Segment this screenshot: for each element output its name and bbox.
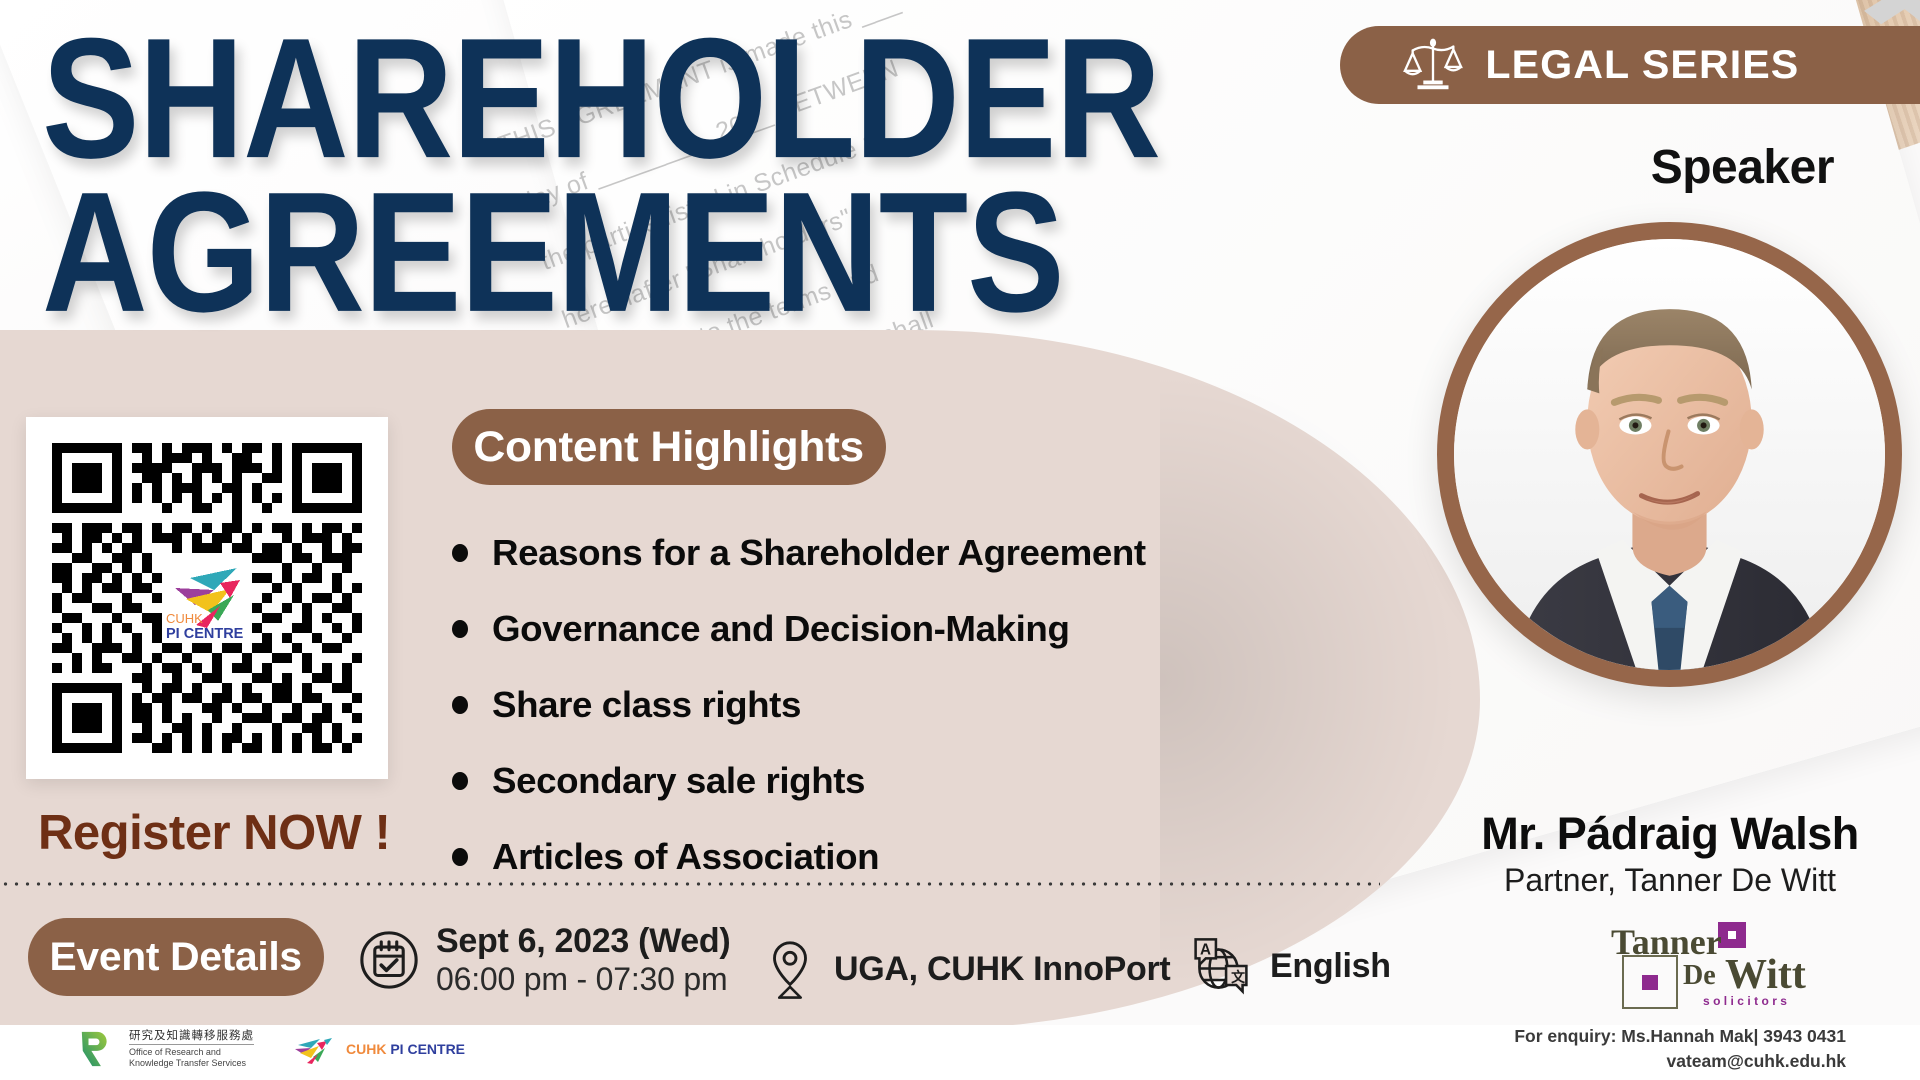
pi-centre-logo: CUHK PI CENTRE xyxy=(294,1033,465,1065)
location-pin-icon xyxy=(762,938,818,1000)
svg-text:CUHK: CUHK xyxy=(166,611,203,626)
speaker-heading: Speaker xyxy=(1651,140,1834,195)
event-details-label: Event Details xyxy=(50,935,302,980)
register-cta[interactable]: Register NOW ! xyxy=(38,805,390,861)
list-item: Share class rights xyxy=(452,667,1212,743)
pi-centre-prefix: CUHK xyxy=(346,1041,386,1057)
ort-english-name: Office of Research and Knowledge Transfe… xyxy=(129,1044,254,1069)
page-title: SHAREHOLDER AGREEMENTS xyxy=(42,22,1208,330)
legal-series-label: LEGAL SERIES xyxy=(1485,43,1799,88)
pi-centre-name: PI CENTRE xyxy=(390,1041,465,1057)
svg-text:文: 文 xyxy=(1231,969,1246,985)
list-item-label: Reasons for a Shareholder Agreement xyxy=(492,532,1146,574)
list-item: Secondary sale rights xyxy=(452,743,1212,819)
title-line-1: SHAREHOLDER xyxy=(42,22,1208,176)
bullet-dot-icon xyxy=(452,696,468,714)
bullet-dot-icon xyxy=(452,544,468,562)
bullet-dot-icon xyxy=(452,772,468,790)
content-highlights-heading: Content Highlights xyxy=(452,409,886,485)
bullet-dot-icon xyxy=(452,848,468,866)
list-item-label: Share class rights xyxy=(492,684,801,726)
avatar xyxy=(1437,222,1902,687)
qr-code[interactable]: CUHK PI CENTRE xyxy=(26,417,388,779)
event-poster: THIS AGREEMENT is made this ___ day of _… xyxy=(0,0,1920,1080)
event-date-block: Sept 6, 2023 (Wed) 06:00 pm - 07:30 pm xyxy=(358,922,730,998)
ort-english-line-2: Knowledge Transfer Services xyxy=(129,1058,254,1069)
event-venue-block: UGA, CUHK InnoPort xyxy=(762,938,1170,1000)
svg-text:A: A xyxy=(1200,942,1211,959)
list-item: Governance and Decision-Making xyxy=(452,591,1212,667)
title-line-2: AGREEMENTS xyxy=(42,176,1208,330)
pi-centre-bird-icon xyxy=(294,1033,340,1065)
svg-text:Witt: Witt xyxy=(1725,952,1806,998)
content-highlights-list: Reasons for a Shareholder Agreement Gove… xyxy=(452,515,1212,895)
event-details-pill: Event Details xyxy=(28,918,324,996)
event-venue: UGA, CUHK InnoPort xyxy=(834,950,1170,989)
tanner-de-witt-logo: Tanner De Witt solicitors xyxy=(1585,920,1845,1012)
list-item-label: Secondary sale rights xyxy=(492,760,865,802)
speaker-name: Mr. Pádraig Walsh xyxy=(1420,808,1920,860)
list-item-label: Articles of Association xyxy=(492,836,879,878)
ort-english-line-1: Office of Research and xyxy=(129,1047,254,1058)
event-language-block: A 文 English xyxy=(1188,935,1391,997)
event-date: Sept 6, 2023 (Wed) xyxy=(436,922,730,961)
content-highlights-label: Content Highlights xyxy=(474,423,865,472)
scales-of-justice-icon xyxy=(1402,34,1464,96)
calendar-check-icon xyxy=(358,929,420,991)
dotted-divider xyxy=(0,880,1380,888)
footer-logos: 研究及知識轉移服務處 Office of Research and Knowle… xyxy=(78,1028,465,1070)
svg-text:PI CENTRE: PI CENTRE xyxy=(166,626,244,642)
enquiry-info: For enquiry: Ms.Hannah Mak| 3943 0431 va… xyxy=(1514,1024,1846,1074)
ort-logo: 研究及知識轉移服務處 Office of Research and Knowle… xyxy=(78,1028,254,1070)
ort-chinese-name: 研究及知識轉移服務處 xyxy=(129,1029,254,1043)
event-language: English xyxy=(1270,947,1391,986)
translate-globe-icon: A 文 xyxy=(1188,935,1254,997)
svg-text:solicitors: solicitors xyxy=(1703,994,1790,1008)
speaker-role: Partner, Tanner De Witt xyxy=(1420,862,1920,899)
event-time: 06:00 pm - 07:30 pm xyxy=(436,961,730,998)
ort-mark-icon xyxy=(78,1028,120,1070)
legal-series-banner: LEGAL SERIES xyxy=(1340,26,1920,104)
svg-text:Tanner: Tanner xyxy=(1611,922,1722,962)
list-item-label: Governance and Decision-Making xyxy=(492,608,1069,650)
enquiry-line-1: For enquiry: Ms.Hannah Mak| 3943 0431 xyxy=(1514,1024,1846,1049)
speaker-portrait xyxy=(1454,239,1885,670)
bullet-dot-icon xyxy=(452,620,468,638)
svg-text:De: De xyxy=(1683,960,1716,991)
qr-code-image: CUHK PI CENTRE xyxy=(42,433,372,763)
list-item: Reasons for a Shareholder Agreement xyxy=(452,515,1212,591)
enquiry-line-2[interactable]: vateam@cuhk.edu.hk xyxy=(1514,1049,1846,1074)
